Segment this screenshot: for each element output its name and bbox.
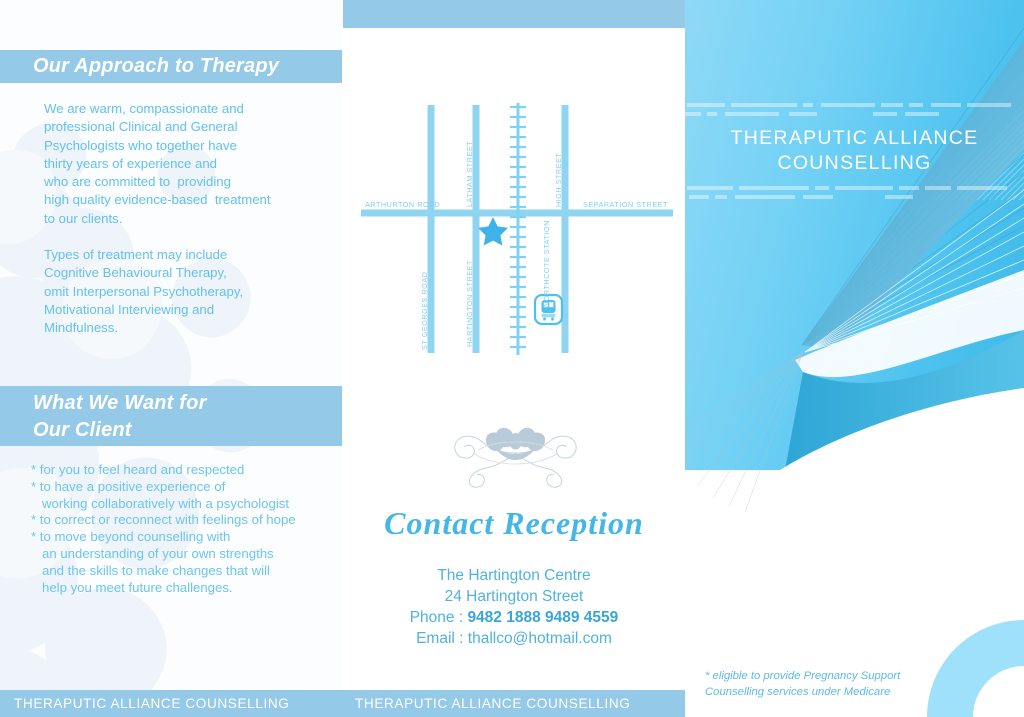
email-value[interactable]: thallco@hotmail.com [468,630,612,647]
contact-phone: Phone : 9482 1888 9489 4559 [343,607,685,628]
flourish-ornament [443,418,588,490]
approach-line: Types of treatment may include [44,246,334,264]
star-icon [478,217,508,246]
map-label-separation-street: SEPARATION STREET [583,200,668,209]
map-svg: ARTHURTON ROAD SEPARATION STREET ST GEOR… [343,95,685,360]
map-label-st-georges-road: ST GEORGES ROAD [420,272,429,350]
page-footer: THERAPUTIC ALLIANCE COUNSELLING THERAPUT… [0,690,685,717]
list-item: help you meet future challenges. [31,580,336,597]
footer-brand-text: THERAPUTIC ALLIANCE COUNSELLING [14,690,289,717]
middle-panel: ARTHURTON ROAD SEPARATION STREET ST GEOR… [343,0,685,690]
dash-row-bottom2 [685,195,1024,199]
footer-brand-text: THERAPUTIC ALLIANCE COUNSELLING [355,690,630,717]
approach-line: Mindfulness. [44,319,334,337]
wants-heading-line2: Our Client [33,417,343,444]
corner-arc-decoration [900,600,1024,717]
approach-line: professional Clinical and General [44,118,334,136]
brochure-page: Our Approach to Therapy We are warm, com… [0,0,1024,717]
right-cover-panel: THERAPUTIC ALLIANCE COUNSELLING * eligib… [685,0,1024,717]
map-label-arthurton-road: ARTHURTON ROAD [365,200,440,209]
map-label-hartington-street: HARTINGTON STREET [465,260,474,347]
approach-line: high quality evidence-based treatment [44,191,334,209]
dash-row-bottom [685,186,1024,190]
list-item: and the skills to make changes that will [31,563,336,580]
wants-list: * for you to feel heard and respected * … [31,462,336,596]
contact-details: The Hartington Centre 24 Hartington Stre… [343,565,685,649]
map-label-latham-street: LATHAM STREET [465,141,474,207]
approach-line: to our clients. [44,210,334,228]
dash-row-top [685,103,1024,107]
contact-address: 24 Hartington Street [343,586,685,607]
approach-line: who are committed to providing [44,173,334,191]
paragraph-gap [44,228,334,246]
section-heading-wants: What We Want for Our Client [0,386,343,446]
list-item: * to have a positive experience of [31,479,336,496]
approach-line: Psychologists who together have [44,137,334,155]
contact-venue: The Hartington Centre [343,565,685,586]
cover-title-line2: COUNSELLING [685,151,1024,176]
cover-title-line1: THERAPUTIC ALLIANCE [685,126,1024,151]
phone-value: 9482 1888 9489 4559 [467,609,618,626]
list-item: * to move beyond counselling with [31,529,336,546]
contact-reception-title: Contact Reception [343,505,685,542]
map-label-northcote-station: NORTHCOTE STATION [542,220,551,307]
contact-email: Email : thallco@hotmail.com [343,628,685,649]
approach-body: We are warm, compassionate and professio… [44,100,334,338]
approach-line: Cognitive Behavioural Therapy, [44,264,334,282]
railway-line [510,103,526,355]
left-panel: Our Approach to Therapy We are warm, com… [0,0,343,690]
cover-title: THERAPUTIC ALLIANCE COUNSELLING [685,126,1024,176]
email-label: Email : [416,630,468,647]
list-item: * for you to feel heard and respected [31,462,336,479]
approach-line: thirty years of experience and [44,155,334,173]
top-accent-bar [343,0,685,28]
list-item: * to correct or reconnect with feelings … [31,512,336,529]
list-item: an understanding of your own strengths [31,546,336,563]
approach-line: We are warm, compassionate and [44,100,334,118]
location-map: ARTHURTON ROAD SEPARATION STREET ST GEOR… [343,95,685,360]
phone-label: Phone : [410,609,468,626]
wants-heading-line1: What We Want for [33,390,343,417]
dash-row-top2 [685,112,1024,116]
approach-line: Motivational Interviewing and [44,301,334,319]
section-heading-approach: Our Approach to Therapy [0,50,343,83]
approach-line: omit Interpersonal Psychotherapy, [44,283,334,301]
map-label-high-street: HIGH STREET [554,153,563,207]
list-item: working collaboratively with a psycholog… [31,496,336,513]
panel-divider [342,28,343,690]
